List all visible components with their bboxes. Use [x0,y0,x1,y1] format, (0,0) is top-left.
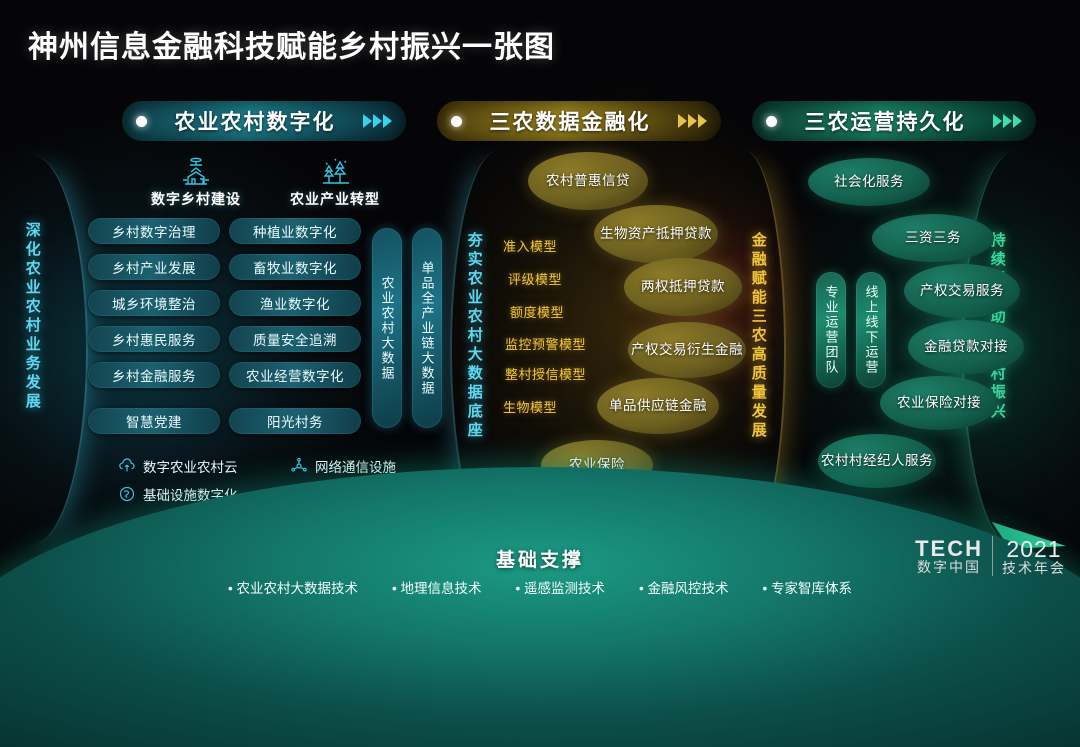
capsule-item[interactable]: 畜牧业数字化 [229,254,361,280]
capsule-item[interactable]: 农业经营数字化 [229,362,361,388]
section-header-operations[interactable]: 三农运营持久化 [752,101,1036,141]
subsection-digital-village: 数字乡村建设 [136,152,256,209]
model-item: 额度模型 [510,302,564,321]
model-item: 生物模型 [503,397,557,416]
capsule-item-extra[interactable]: 智慧党建 [88,408,220,434]
finance-product-ellipse[interactable]: 生物资产抵押贷款 [594,205,718,263]
capsule-item-extra[interactable]: 阳光村务 [229,408,361,434]
logo-tech-text: TECH [915,537,983,560]
operation-pillar[interactable]: 线上线下运营 [856,272,886,388]
village-house-icon [136,152,256,186]
forest-trees-icon [275,152,395,186]
side-label-mid-right: 金融赋能三农高质量发展 [750,232,766,441]
finance-product-ellipse[interactable]: 单品供应链金融 [597,378,719,434]
capsule-item[interactable]: 乡村金融服务 [88,362,220,388]
foundation-item: 遥感监测技术 [516,577,605,597]
foundation-item: 农业农村大数据技术 [228,577,358,597]
operation-service-ellipse[interactable]: 社会化服务 [808,158,930,206]
model-item: 评级模型 [508,269,562,288]
data-pillar[interactable]: 农业农村大数据 [372,228,402,428]
model-item: 准入模型 [503,236,557,255]
cloud-upload-icon [118,457,136,475]
operation-service-ellipse[interactable]: 农村村经纪人服务 [818,434,936,488]
operation-pillar[interactable]: 专业运营团队 [816,272,846,388]
subsection-label: 农业产业转型 [275,189,395,209]
foundation-base [0,467,1080,747]
data-pillar[interactable]: 单品全产业链大数据 [412,228,442,428]
chevrons-right-icon [363,114,392,128]
operation-service-ellipse[interactable]: 三资三务 [872,214,994,262]
model-item: 整村授信模型 [505,364,586,383]
logo-right: 2021 技术年会 [1002,537,1066,576]
capsule-item[interactable]: 乡村惠民服务 [88,326,220,352]
bullet-dot-icon [451,116,462,127]
logo-conference: 技术年会 [1002,561,1066,576]
capsule-item[interactable]: 质量安全追溯 [229,326,361,352]
capsule-item[interactable]: 乡村数字治理 [88,218,220,244]
model-item: 监控预警模型 [505,334,586,353]
chevrons-right-icon [993,114,1022,128]
infra-item-cloud[interactable]: 数字农业农村云 [118,456,238,476]
side-label-left: 深化农业农村业务发展 [24,222,40,412]
finance-product-ellipse[interactable]: 两权抵押贷款 [624,258,742,316]
conference-logo: TECH 数字中国 2021 技术年会 [915,536,1066,576]
foundation-item: 专家智库体系 [762,577,851,597]
chevrons-right-icon [678,114,707,128]
logo-year: 2021 [1002,537,1066,561]
operation-service-ellipse[interactable]: 产权交易服务 [904,264,1020,318]
capsule-item[interactable]: 乡村产业发展 [88,254,220,280]
foundation-items: 农业农村大数据技术 地理信息技术 遥感监测技术 金融风控技术 专家智库体系 [0,577,1080,597]
section-header-label: 农业农村数字化 [147,106,363,136]
logo-cn-text: 数字中国 [915,560,983,575]
network-node-icon [290,457,308,475]
foundation-item: 金融风控技术 [639,577,728,597]
section-header-agriculture-digital[interactable]: 农业农村数字化 [122,101,406,141]
finance-product-ellipse[interactable]: 农村普惠信贷 [528,152,648,210]
operation-service-ellipse[interactable]: 金融贷款对接 [908,320,1024,374]
foundation-item: 地理信息技术 [392,577,481,597]
capsule-item[interactable]: 渔业数字化 [229,290,361,316]
infra-label: 数字农业农村云 [143,456,238,476]
capsule-item[interactable]: 种植业数字化 [229,218,361,244]
logo-left: TECH 数字中国 [915,537,983,575]
capsule-item[interactable]: 城乡环境整治 [88,290,220,316]
finance-product-ellipse[interactable]: 产权交易衍生金融 [628,322,746,378]
section-header-label: 三农数据金融化 [462,106,678,136]
left-panel-curve [8,155,88,545]
bullet-dot-icon [766,116,777,127]
operation-service-ellipse[interactable]: 农业保险对接 [880,376,998,430]
logo-divider [992,536,993,576]
section-header-data-finance[interactable]: 三农数据金融化 [437,101,721,141]
bullet-dot-icon [136,116,147,127]
side-label-mid-left: 夯实农业农村大数据底座 [466,232,482,441]
refresh-circle-icon [118,485,136,503]
subsection-agri-transform: 农业产业转型 [275,152,395,209]
section-header-label: 三农运营持久化 [777,106,993,136]
page-title: 神州信息金融科技赋能乡村振兴一张图 [28,22,555,66]
subsection-label: 数字乡村建设 [136,189,256,209]
